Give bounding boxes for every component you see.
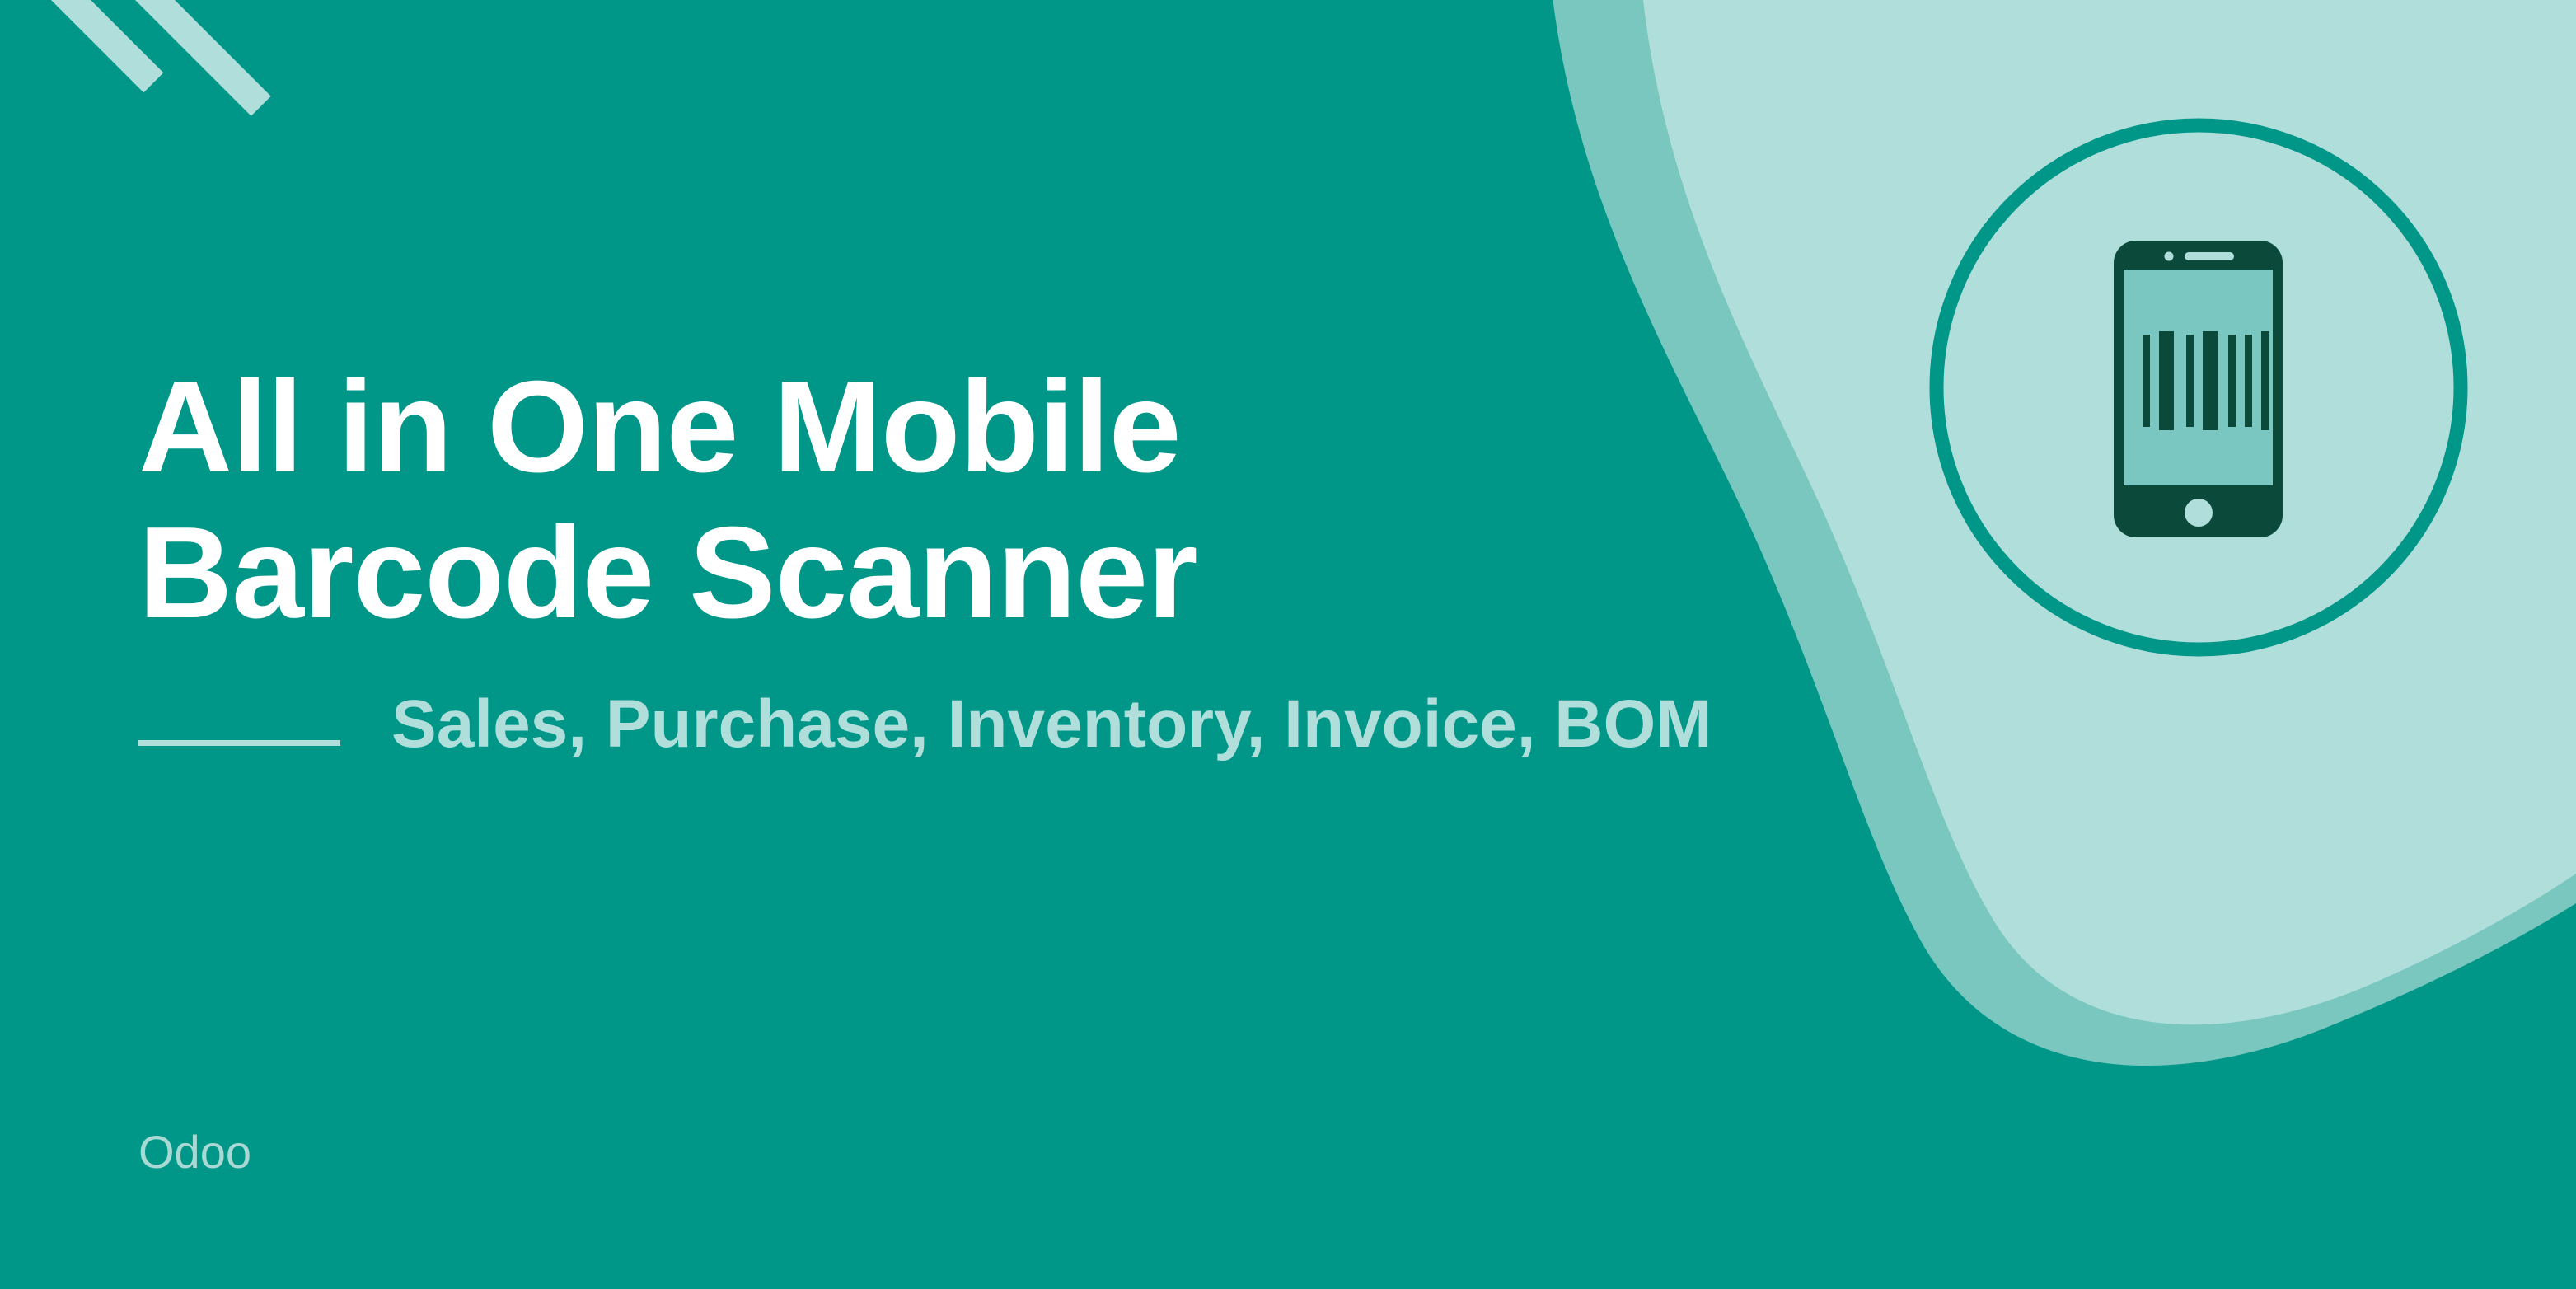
front-camera-dot-icon [2165,252,2174,261]
subtitle-row: Sales, Purchase, Inventory, Invoice, BOM [138,684,1721,765]
page-title: All in One Mobile Barcode Scanner [138,354,1721,646]
subtitle-dash-rule [138,740,340,746]
earpiece-speaker-icon [2185,252,2234,260]
barcode-bars-icon [2143,331,2269,430]
home-button-icon [2185,499,2213,527]
page-subtitle: Sales, Purchase, Inventory, Invoice, BOM [340,684,1743,765]
text-content-block: All in One Mobile Barcode Scanner Sales,… [138,0,1754,1289]
brand-label: Odoo [138,1129,251,1175]
slide-canvas: All in One Mobile Barcode Scanner Sales,… [0,0,2576,1289]
